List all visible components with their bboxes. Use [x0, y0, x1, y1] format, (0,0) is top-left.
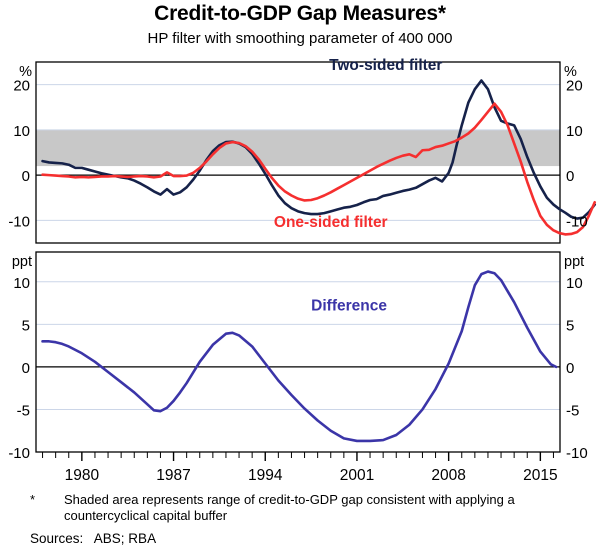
- y-axis-label-left: %: [19, 64, 32, 80]
- y-tick-label-left: 10: [13, 275, 30, 292]
- credit-to-gdp-gap-chart: Two-sided filterOne-sided filter20201010…: [0, 0, 600, 492]
- y-tick-label-right: -10: [566, 445, 588, 462]
- x-tick-label: 2015: [523, 467, 557, 484]
- x-tick-label: 1980: [65, 467, 100, 484]
- y-tick-label-left: 20: [13, 78, 30, 95]
- x-tick-label: 2001: [340, 467, 374, 484]
- x-tick-label: 2008: [431, 467, 465, 484]
- y-axis-label-left: ppt: [12, 254, 32, 270]
- sources-value: ABS; RBA: [94, 531, 156, 546]
- x-tick-label: 1994: [248, 467, 283, 484]
- series-label-difference: Difference: [311, 298, 387, 315]
- y-tick-label-left: -5: [17, 402, 30, 419]
- y-tick-label-right: 5: [566, 317, 574, 334]
- series-line-difference: [43, 272, 557, 441]
- y-tick-label-left: -10: [8, 213, 30, 230]
- series-label-one-sided-filter: One-sided filter: [274, 214, 388, 231]
- footnote-text: Shaded area represents range of credit-t…: [64, 492, 600, 524]
- shaded-band-region: [36, 130, 560, 166]
- y-tick-label-right: -5: [566, 402, 579, 419]
- y-tick-label-left: 5: [22, 317, 30, 334]
- y-tick-label-left: 0: [22, 360, 30, 377]
- sources-label: Sources:: [30, 531, 83, 546]
- sources-line: Sources: ABS; RBA: [0, 531, 600, 547]
- footnote-row: * Shaded area represents range of credit…: [0, 492, 600, 524]
- y-axis-label-right: %: [564, 64, 577, 80]
- footnote-block: * Shaded area represents range of credit…: [0, 492, 600, 547]
- y-axis-label-right: ppt: [564, 254, 584, 270]
- x-tick-label: 1987: [156, 467, 190, 484]
- series-label-two-sided-filter: Two-sided filter: [329, 57, 442, 74]
- y-tick-label-right: 10: [566, 123, 583, 140]
- y-tick-label-right: 20: [566, 78, 583, 95]
- y-tick-label-right: 10: [566, 275, 583, 292]
- chart-page: Credit-to-GDP Gap Measures* HP filter wi…: [0, 0, 600, 557]
- footnote-marker: *: [30, 492, 64, 524]
- y-tick-label-right: -10: [566, 213, 588, 230]
- y-tick-label-left: 10: [13, 123, 30, 140]
- y-tick-label-left: 0: [22, 168, 30, 185]
- y-tick-label-left: -10: [8, 445, 30, 462]
- y-tick-label-right: 0: [566, 168, 574, 185]
- y-tick-label-right: 0: [566, 360, 574, 377]
